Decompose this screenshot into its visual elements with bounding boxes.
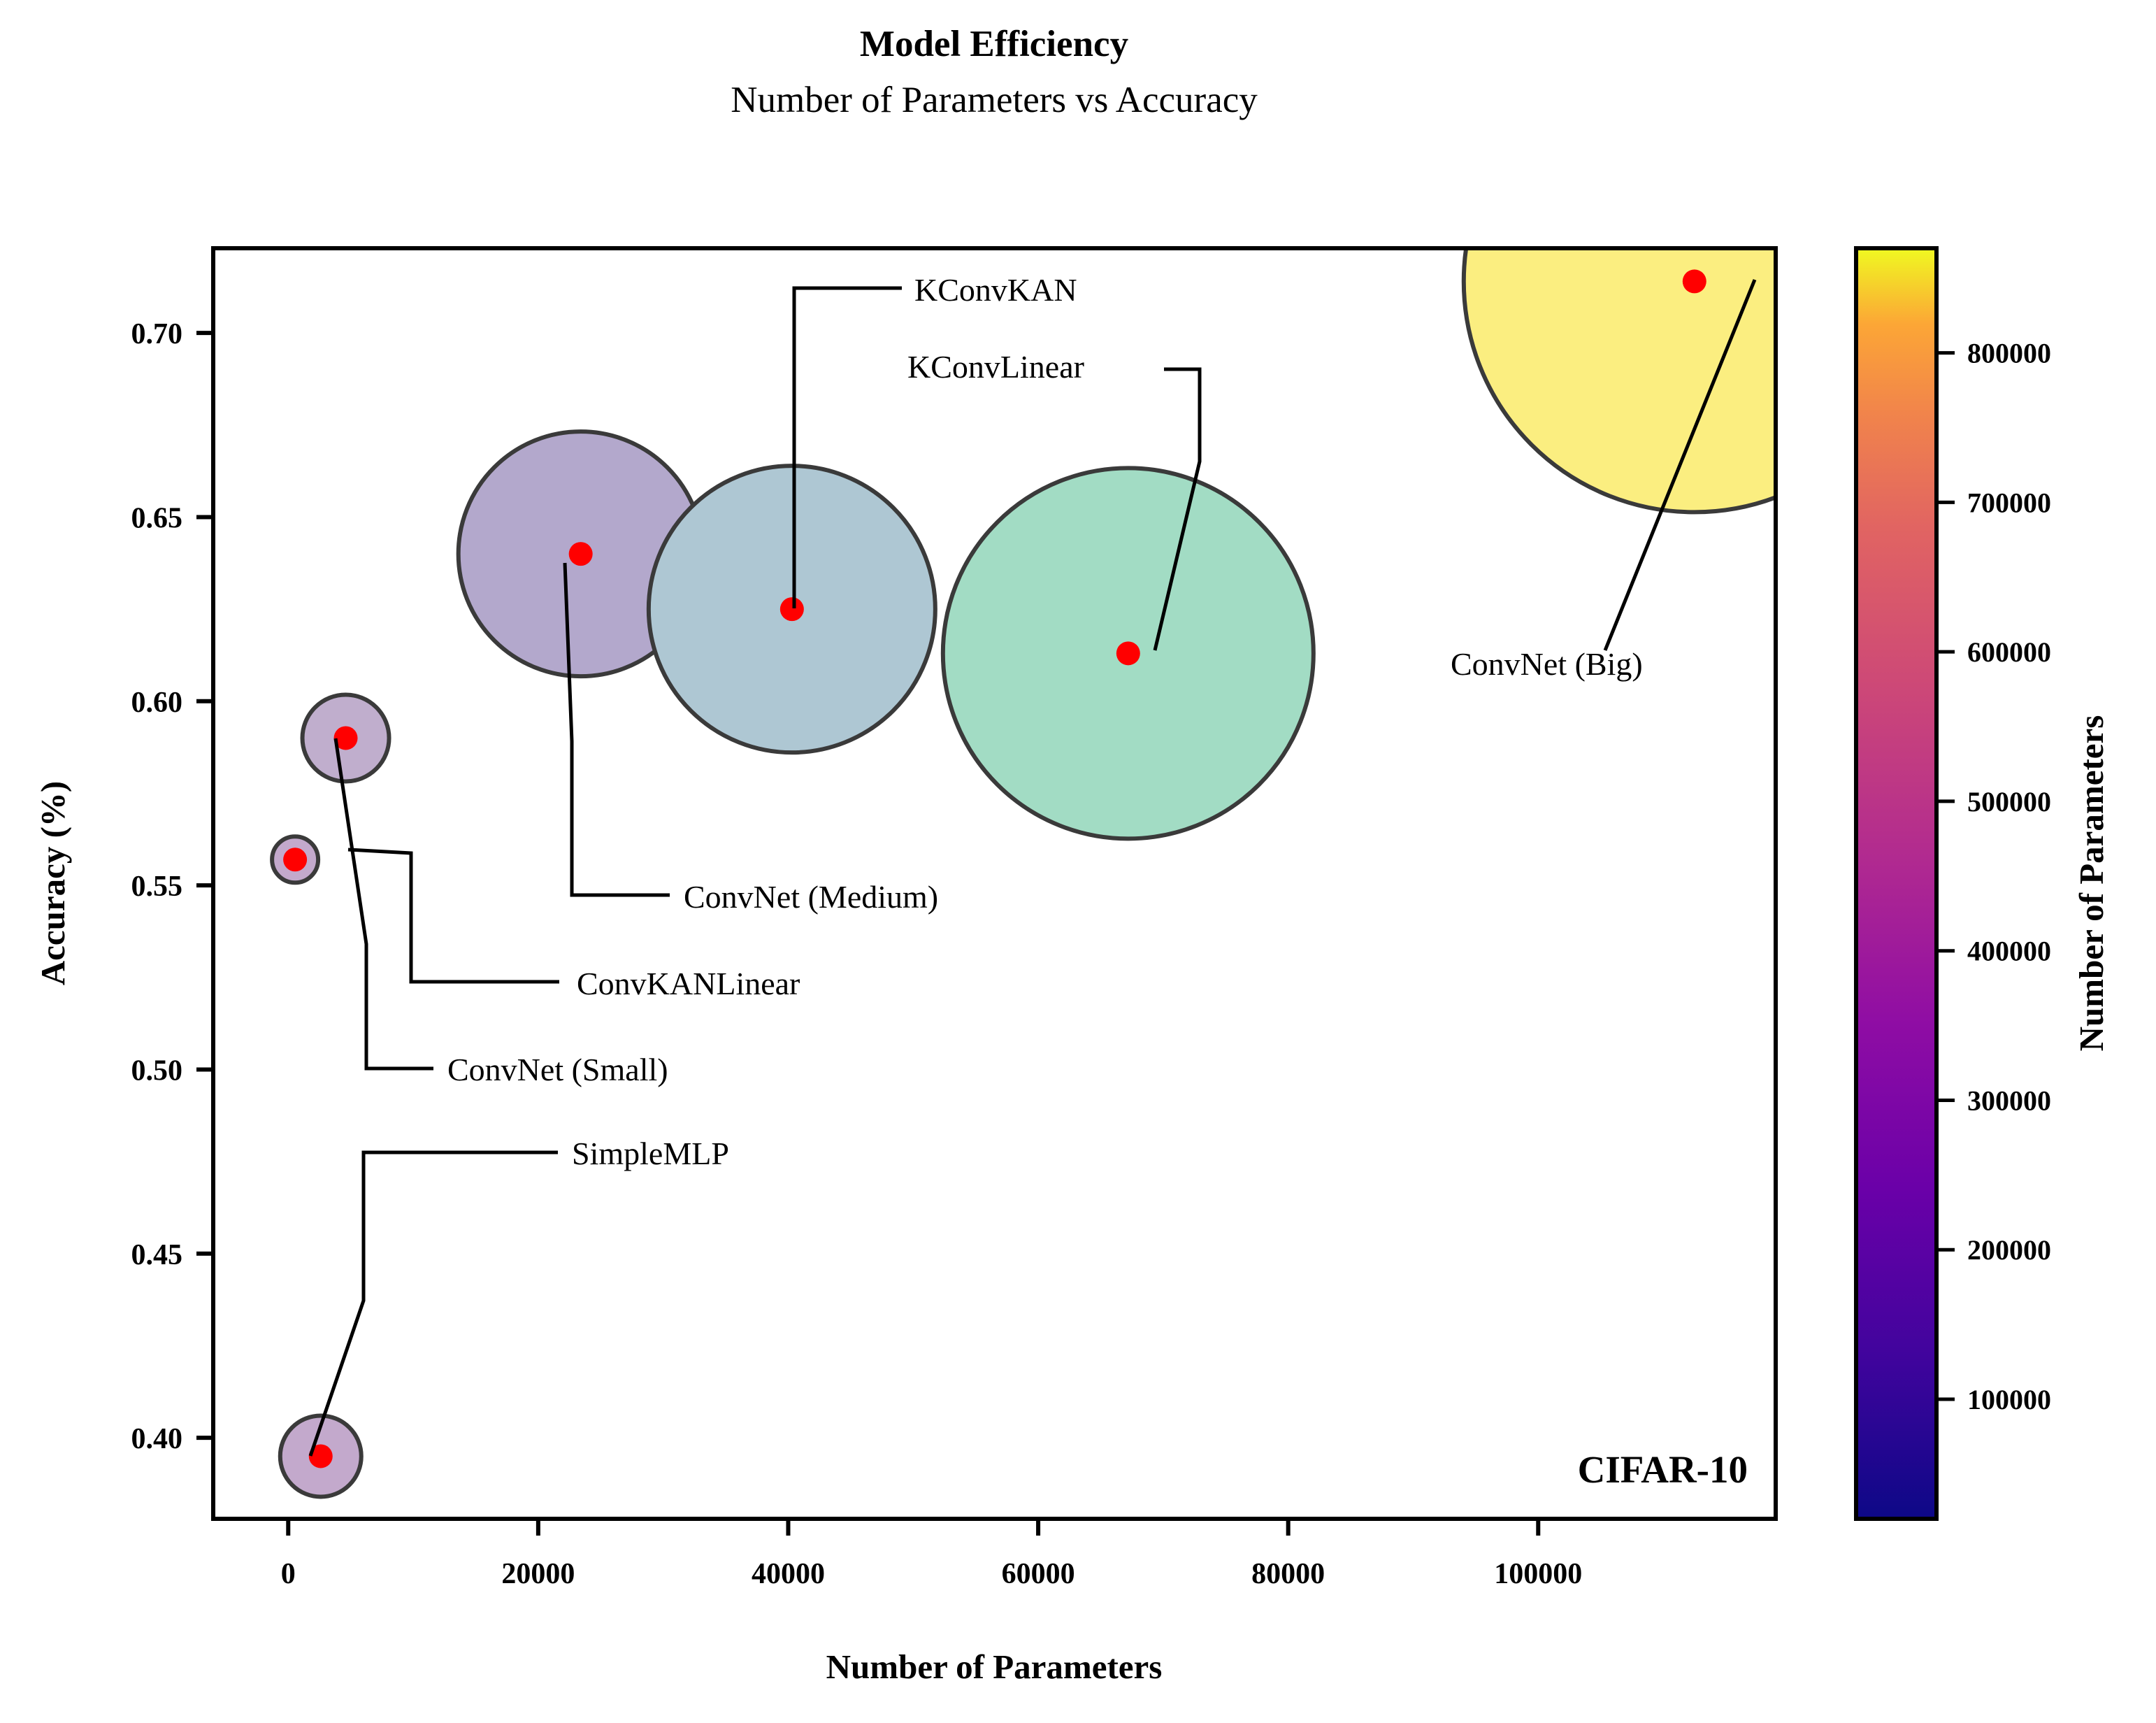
- bubble-series: [272, 50, 1925, 1496]
- annotation-label-convnet-medium: ConvNet (Medium): [684, 879, 938, 915]
- center-dot-convnet-medium[interactable]: [569, 542, 593, 566]
- colorbar-label: Number of Parameters: [2072, 715, 2111, 1052]
- y-tick-label: 0.40: [131, 1423, 183, 1455]
- center-dot-convkanlinear[interactable]: [283, 848, 307, 871]
- x-tick-label: 20000: [501, 1558, 575, 1590]
- colorbar-tick-label: 500000: [1967, 786, 2051, 817]
- leader-line-simplemlp: [310, 1152, 558, 1456]
- x-tick-label: 40000: [752, 1558, 825, 1590]
- colorbar-gradient-bar: [1856, 248, 1936, 1519]
- y-axis-label: Accuracy (%): [34, 781, 72, 986]
- y-axis-ticks: 0.400.450.500.550.600.650.70: [131, 318, 214, 1455]
- center-dot-kconvkan[interactable]: [780, 597, 804, 621]
- leader-line-convkanlinear: [348, 850, 559, 982]
- annotation-label-kconvlinear: KConvLinear: [907, 349, 1084, 385]
- figure-canvas: Model Efficiency Number of Parameters vs…: [0, 0, 2156, 1723]
- y-tick-label: 0.60: [131, 687, 183, 719]
- colorbar-tick-label: 300000: [1967, 1085, 2051, 1116]
- colorbar: 1000002000003000004000005000006000007000…: [1856, 248, 2051, 1519]
- leader-line-convnet-small: [336, 738, 433, 1068]
- annotation-label-simplemlp: SimpleMLP: [572, 1136, 729, 1171]
- x-tick-label: 80000: [1251, 1558, 1325, 1590]
- y-tick-label: 0.65: [131, 502, 183, 534]
- colorbar-tick-label: 700000: [1967, 487, 2051, 518]
- center-dot-kconvlinear[interactable]: [1116, 641, 1140, 665]
- annotation-label-kconvkan: KConvKAN: [914, 272, 1077, 308]
- y-tick-label: 0.55: [131, 871, 183, 903]
- model-efficiency-bubble-chart: Model Efficiency Number of Parameters vs…: [0, 0, 2156, 1723]
- x-axis-ticks: 020000400006000080000100000: [281, 1519, 1583, 1590]
- y-tick-label: 0.45: [131, 1239, 183, 1271]
- x-tick-label: 60000: [1002, 1558, 1075, 1590]
- colorbar-tick-label: 600000: [1967, 636, 2051, 668]
- x-tick-label: 0: [281, 1558, 296, 1590]
- y-tick-label: 0.50: [131, 1054, 183, 1087]
- annotation-label-convkanlinear: ConvKANLinear: [577, 966, 800, 1001]
- chart-title: Model Efficiency: [860, 24, 1128, 64]
- colorbar-tick-label: 200000: [1967, 1234, 2051, 1266]
- annotation-label-convnet-big: ConvNet (Big): [1451, 646, 1643, 682]
- colorbar-tick-label: 400000: [1967, 936, 2051, 967]
- x-axis-label: Number of Parameters: [826, 1647, 1163, 1686]
- colorbar-tick-label: 100000: [1967, 1384, 2051, 1415]
- center-dot-series: [283, 269, 1706, 1468]
- y-tick-label: 0.70: [131, 318, 183, 350]
- annotation-label-convnet-small: ConvNet (Small): [447, 1052, 668, 1087]
- chart-subtitle: Number of Parameters vs Accuracy: [731, 80, 1258, 120]
- colorbar-tick-label: 800000: [1967, 338, 2051, 369]
- dataset-tag: CIFAR-10: [1578, 1448, 1748, 1491]
- x-tick-label: 100000: [1494, 1558, 1582, 1590]
- center-dot-convnet-big[interactable]: [1683, 269, 1706, 293]
